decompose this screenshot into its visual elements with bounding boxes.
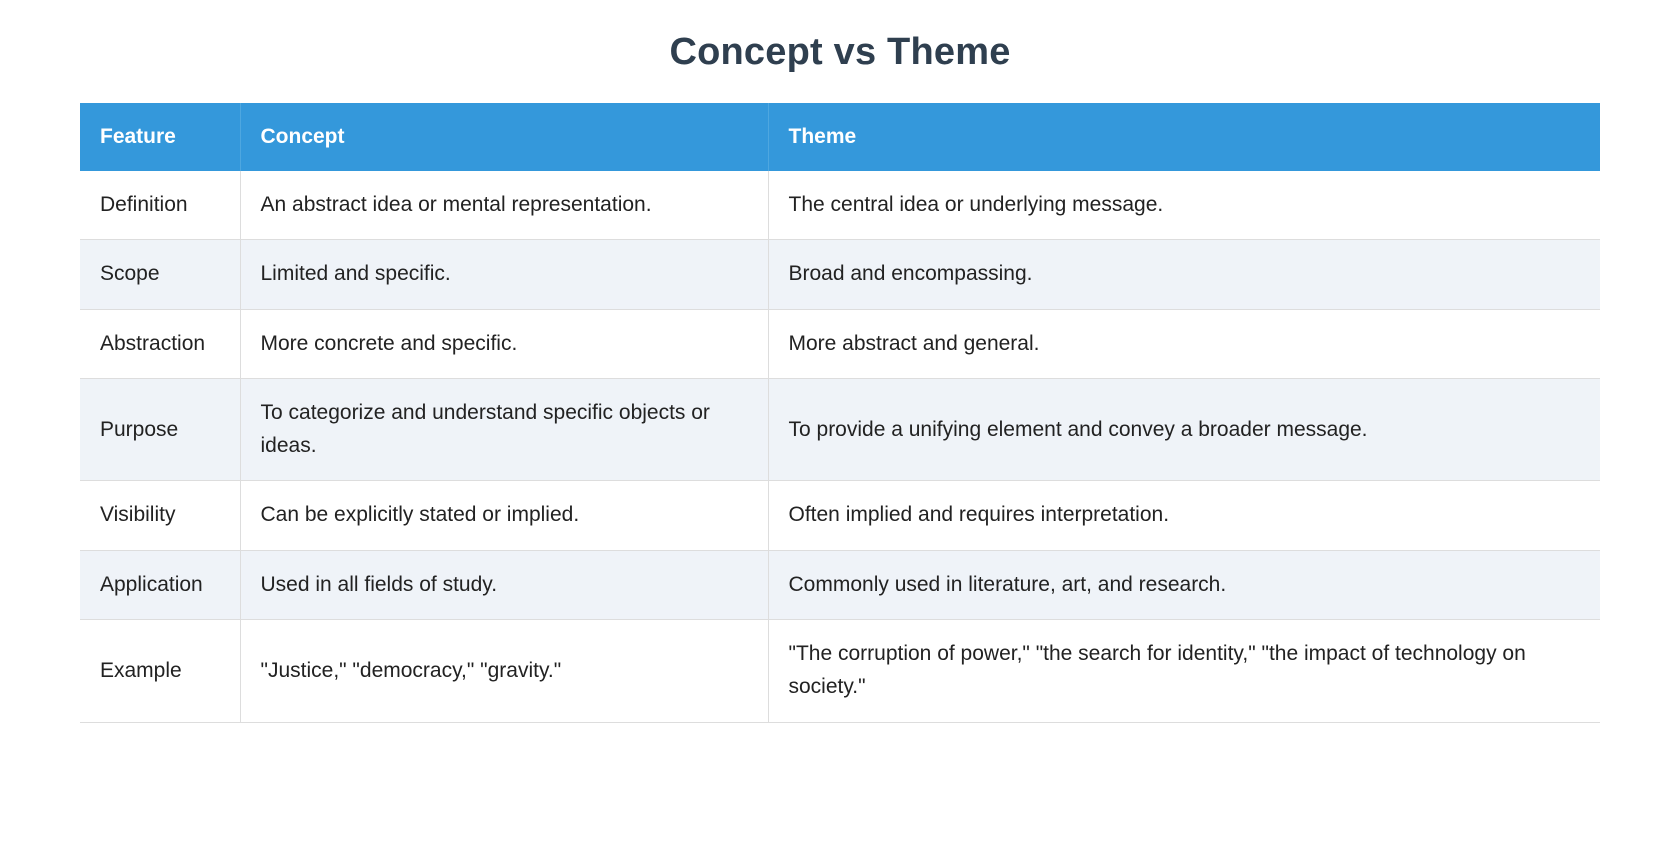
cell-theme: The central idea or underlying message. <box>768 171 1600 240</box>
cell-concept: Can be explicitly stated or implied. <box>240 481 768 551</box>
cell-feature: Application <box>80 550 240 620</box>
column-header-concept[interactable]: Concept <box>240 103 768 171</box>
cell-concept: Used in all fields of study. <box>240 550 768 620</box>
comparison-table: Feature Concept Theme Definition An abst… <box>80 103 1600 723</box>
cell-theme: To provide a unifying element and convey… <box>768 379 1600 481</box>
cell-theme: Often implied and requires interpretatio… <box>768 481 1600 551</box>
table-row: Visibility Can be explicitly stated or i… <box>80 481 1600 551</box>
header-row: Feature Concept Theme <box>80 103 1600 171</box>
column-header-feature[interactable]: Feature <box>80 103 240 171</box>
cell-feature: Definition <box>80 171 240 240</box>
column-header-theme[interactable]: Theme <box>768 103 1600 171</box>
cell-concept: "Justice," "democracy," "gravity." <box>240 620 768 722</box>
table-header: Feature Concept Theme <box>80 103 1600 171</box>
cell-feature: Abstraction <box>80 309 240 379</box>
cell-theme: "The corruption of power," "the search f… <box>768 620 1600 722</box>
table-row: Example "Justice," "democracy," "gravity… <box>80 620 1600 722</box>
table-row: Application Used in all fields of study.… <box>80 550 1600 620</box>
table-row: Purpose To categorize and understand spe… <box>80 379 1600 481</box>
cell-feature: Scope <box>80 240 240 310</box>
comparison-table-container: Feature Concept Theme Definition An abst… <box>80 103 1600 723</box>
cell-concept: To categorize and understand specific ob… <box>240 379 768 481</box>
cell-concept: Limited and specific. <box>240 240 768 310</box>
page-root: Concept vs Theme Feature Concept Theme D… <box>0 0 1680 856</box>
cell-feature: Example <box>80 620 240 722</box>
cell-theme: More abstract and general. <box>768 309 1600 379</box>
page-title: Concept vs Theme <box>0 0 1680 76</box>
cell-feature: Purpose <box>80 379 240 481</box>
cell-theme: Broad and encompassing. <box>768 240 1600 310</box>
cell-concept: An abstract idea or mental representatio… <box>240 171 768 240</box>
table-row: Definition An abstract idea or mental re… <box>80 171 1600 240</box>
table-row: Abstraction More concrete and specific. … <box>80 309 1600 379</box>
cell-theme: Commonly used in literature, art, and re… <box>768 550 1600 620</box>
table-body: Definition An abstract idea or mental re… <box>80 171 1600 722</box>
table-row: Scope Limited and specific. Broad and en… <box>80 240 1600 310</box>
cell-concept: More concrete and specific. <box>240 309 768 379</box>
cell-feature: Visibility <box>80 481 240 551</box>
